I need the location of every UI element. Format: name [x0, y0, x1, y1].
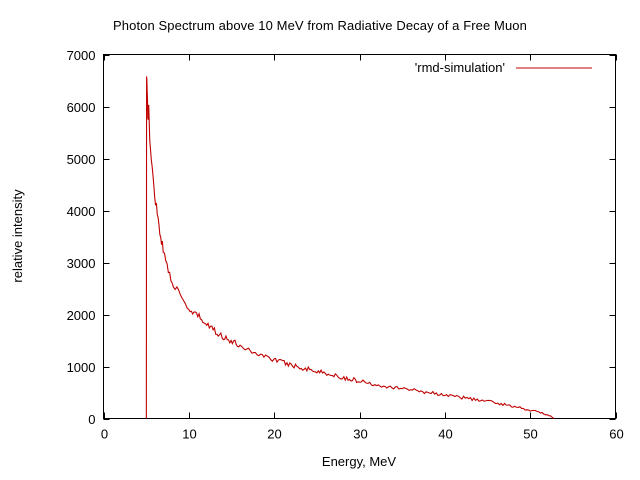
x-tick-label: 0 — [101, 427, 108, 442]
data-series-line — [146, 76, 554, 418]
chart-figure: Photon Spectrum above 10 MeV from Radiat… — [0, 0, 640, 480]
x-tick-label: 50 — [523, 427, 537, 442]
y-tick-label: 2000 — [67, 308, 96, 323]
x-axis-ticks: 0102030405060 — [101, 55, 624, 442]
x-tick-label: 60 — [609, 427, 623, 442]
plot-frame — [104, 55, 616, 419]
y-tick-label: 4000 — [67, 204, 96, 219]
x-tick-label: 10 — [182, 427, 196, 442]
data-series-group — [146, 76, 554, 418]
y-tick-label: 0 — [88, 412, 95, 427]
y-tick-label: 6000 — [67, 100, 96, 115]
y-tick-label: 5000 — [67, 152, 96, 167]
y-tick-label: 7000 — [67, 48, 96, 63]
y-axis-title: relative intensity — [10, 189, 25, 283]
plot-area-svg: 01000200030004000500060007000 0102030405… — [0, 0, 640, 480]
y-axis-ticks: 01000200030004000500060007000 — [67, 48, 616, 427]
x-tick-label: 20 — [267, 427, 281, 442]
x-tick-label: 30 — [353, 427, 367, 442]
y-tick-label: 1000 — [67, 360, 96, 375]
x-axis-title: Energy, MeV — [322, 454, 397, 469]
x-tick-label: 40 — [438, 427, 452, 442]
legend-entry-label: 'rmd-simulation' — [415, 60, 505, 75]
y-tick-label: 3000 — [67, 256, 96, 271]
legend: 'rmd-simulation' — [415, 60, 592, 75]
